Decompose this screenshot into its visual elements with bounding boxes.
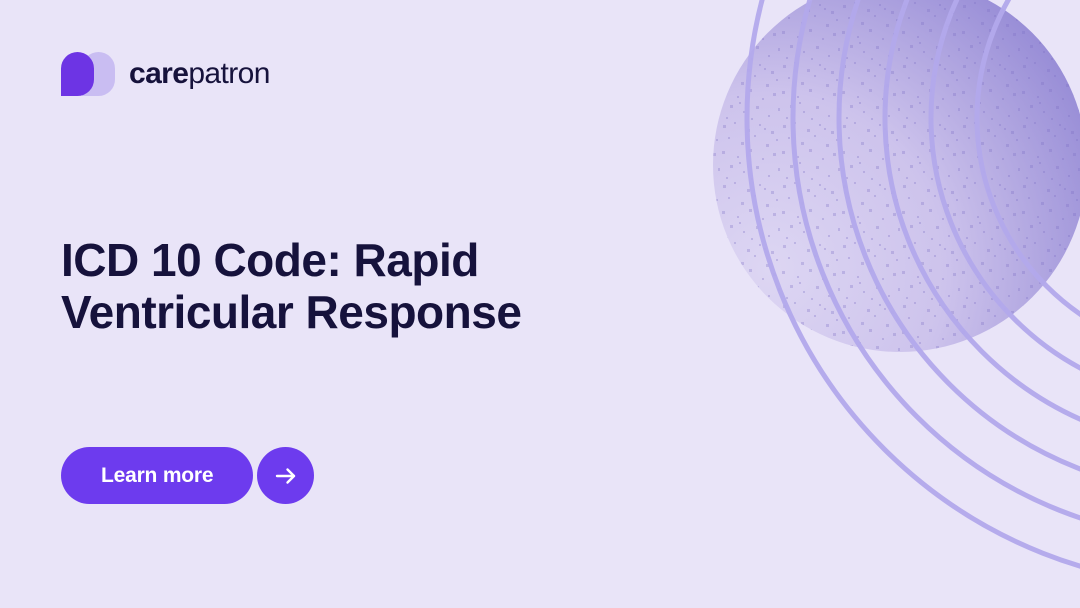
logo-word-patron: patron xyxy=(188,57,269,90)
learn-more-arrow-button[interactable] xyxy=(257,447,314,504)
carepatron-droplet-mark xyxy=(61,52,115,96)
learn-more-button[interactable]: Learn more xyxy=(61,447,253,504)
arrow-right-icon xyxy=(273,463,299,489)
decor-arcs xyxy=(747,0,1080,586)
decor-sphere xyxy=(713,0,1080,352)
logo-word-care: care xyxy=(129,57,188,90)
carepatron-banner: carepatron ICD 10 Code: Rapid Ventricula… xyxy=(0,0,1080,608)
page-title: ICD 10 Code: Rapid Ventricular Response xyxy=(61,234,621,338)
carepatron-logo[interactable]: carepatron xyxy=(61,52,270,96)
logo-wordmark: carepatron xyxy=(129,59,270,89)
droplet-front-shape xyxy=(61,52,94,96)
cta-group: Learn more xyxy=(61,447,314,504)
